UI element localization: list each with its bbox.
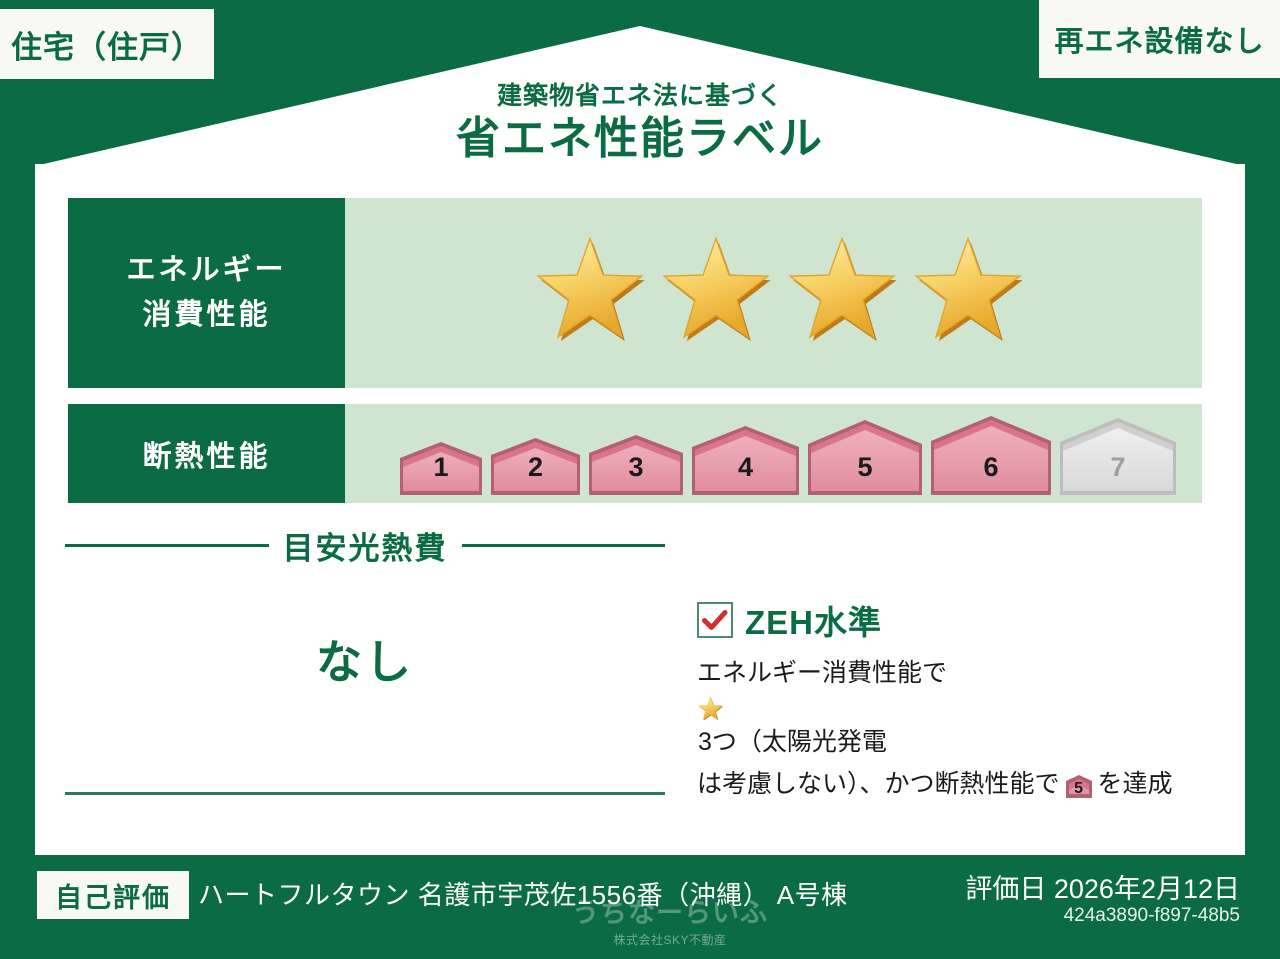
evaluation-date: 評価日 2026年2月12日 xyxy=(965,867,1240,906)
insulation-level-number: 4 xyxy=(738,452,753,495)
insulation-level-5: 5 xyxy=(805,417,925,495)
watermark-sub-text: 株式会社SKY不動産 xyxy=(560,931,780,948)
energy-performance-value xyxy=(345,198,1202,388)
insulation-level-2: 2 xyxy=(488,435,583,495)
inline-star-icon xyxy=(697,696,1217,723)
insulation-performance-label: 断熱性能 xyxy=(68,404,345,503)
building-type-badge: 住宅（住戸） xyxy=(0,9,214,79)
zeh-checkbox[interactable] xyxy=(697,602,733,638)
zeh-desc-star-count: 3つ（太陽光発電 xyxy=(698,728,887,756)
utility-cost-heading: 目安光熱費 xyxy=(65,523,665,568)
zeh-desc-part3: を達成 xyxy=(1098,770,1173,798)
insulation-level-3: 3 xyxy=(586,432,686,495)
renewable-energy-badge: 再エネ設備なし xyxy=(1039,0,1280,78)
zeh-desc-part1: エネルギー消費性能で xyxy=(697,659,947,687)
insulation-performance-value: 1234567 xyxy=(345,404,1202,503)
energy-label-line1: エネルギー xyxy=(126,248,286,293)
energy-performance-label: エネルギー 消費性能 xyxy=(68,198,345,388)
insulation-level-1: 1 xyxy=(397,439,485,495)
insulation-level-4: 4 xyxy=(689,423,802,495)
insulation-level-number: 2 xyxy=(528,452,543,495)
insulation-level-6: 6 xyxy=(928,413,1054,495)
zeh-title: ZEH水準 xyxy=(745,596,882,644)
footer: 自己評価 ハートフルタウン 名護市宇茂佐1556番（沖縄） A号棟 うちなーらい… xyxy=(0,855,1280,959)
star-rating xyxy=(345,234,1027,352)
insulation-level-number: 7 xyxy=(1110,452,1125,495)
page-title: 省エネ性能ラベル xyxy=(0,111,1280,166)
title-block: 建築物省エネ法に基づく 省エネ性能ラベル xyxy=(0,82,1280,166)
property-name: ハートフルタウン 名護市宇茂佐1556番（沖縄） A号棟 xyxy=(198,875,848,912)
insulation-level-number: 1 xyxy=(433,452,448,495)
star-icon xyxy=(531,234,649,352)
self-evaluation-badge: 自己評価 xyxy=(37,871,189,919)
star-icon xyxy=(783,234,901,352)
utility-cost-value: なし xyxy=(65,626,665,692)
zeh-desc-part2: は考慮しない）、かつ断熱性能で xyxy=(697,770,1060,798)
zeh-standard-block: ZEH水準 エネルギー消費性能で3つ（太陽光発電は考慮しない）、かつ断熱性能で5… xyxy=(697,596,1217,809)
utility-cost-heading-text: 目安光熱費 xyxy=(283,523,448,568)
title-subtitle: 建築物省エネ法に基づく xyxy=(0,82,1280,111)
zeh-description: エネルギー消費性能で3つ（太陽光発電は考慮しない）、かつ断熱性能で5を達成 xyxy=(697,654,1217,809)
energy-label-line2: 消費性能 xyxy=(142,293,270,338)
insulation-level-number: 3 xyxy=(628,452,643,495)
energy-performance-row: エネルギー 消費性能 xyxy=(68,198,1202,388)
evaluation-id: 424a3890-f897-48b5 xyxy=(1064,905,1240,927)
check-icon xyxy=(702,609,728,631)
zeh-heading: ZEH水準 xyxy=(697,596,1217,644)
insulation-performance-row: 断熱性能 1234567 xyxy=(68,404,1202,503)
energy-performance-label: 住宅（住戸） 再エネ設備なし 建築物省エネ法に基づく 省エネ性能ラベル エネルギ… xyxy=(0,0,1280,959)
insulation-level-scale: 1234567 xyxy=(345,413,1179,495)
insulation-level-number: 6 xyxy=(983,452,998,495)
inline-house-level-icon: 5 xyxy=(1063,776,1095,804)
utility-cost-bottom-rule xyxy=(65,792,665,795)
heading-rule-left xyxy=(65,544,269,547)
insulation-level-number: 5 xyxy=(857,452,872,495)
heading-rule-right xyxy=(462,544,666,547)
insulation-level-7: 7 xyxy=(1057,415,1179,495)
star-icon xyxy=(909,234,1027,352)
star-icon xyxy=(657,234,775,352)
